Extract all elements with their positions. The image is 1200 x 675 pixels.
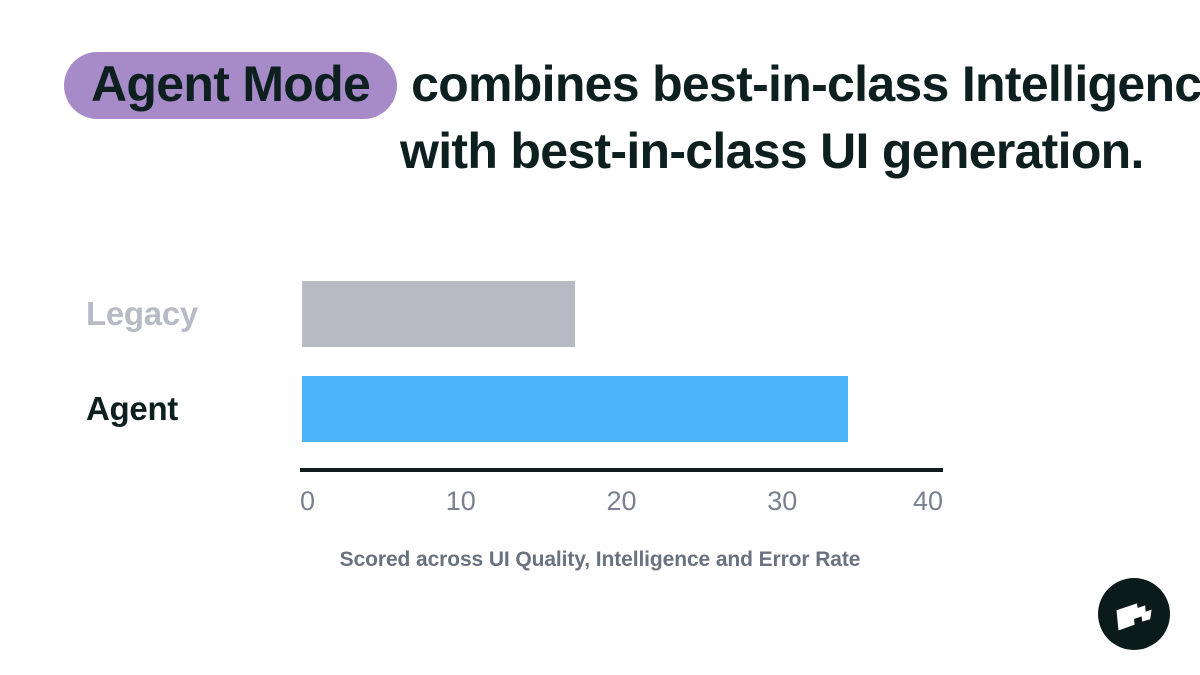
chart-row-agent: Agent [0, 376, 1200, 442]
bar-track-legacy [302, 281, 944, 347]
x-tick-label-20: 20 [606, 486, 636, 517]
slide-canvas: Agent Modecombines best-in-class Intelli… [0, 0, 1200, 675]
x-tick-label-30: 30 [767, 486, 797, 517]
agent-mode-badge: Agent Mode [64, 52, 397, 119]
headline-line-1: Agent Modecombines best-in-class Intelli… [64, 52, 1154, 119]
headline-line-2: with best-in-class UI generation. [64, 119, 1154, 183]
page-title: Agent Modecombines best-in-class Intelli… [64, 52, 1154, 183]
flag-mark-icon [1114, 597, 1154, 631]
bar-chart: Legacy Agent 010203040 Scored across UI … [0, 262, 1200, 592]
brand-logo-badge[interactable] [1098, 578, 1170, 650]
bar-legacy [302, 281, 575, 347]
x-tick-label-10: 10 [446, 486, 476, 517]
x-axis-ticks: 010203040 [300, 486, 943, 520]
bar-category-label-legacy: Legacy [0, 281, 278, 347]
bar-track-agent [302, 376, 944, 442]
x-tick-label-40: 40 [913, 486, 943, 517]
bar-category-label-agent: Agent [0, 376, 278, 442]
headline-line-1-text: combines best-in-class Intelligence [411, 56, 1200, 112]
x-axis-line [300, 468, 943, 472]
chart-caption: Scored across UI Quality, Intelligence a… [0, 548, 1200, 572]
chart-row-legacy: Legacy [0, 281, 1200, 347]
x-tick-label-0: 0 [300, 486, 315, 517]
bar-agent [302, 376, 848, 442]
